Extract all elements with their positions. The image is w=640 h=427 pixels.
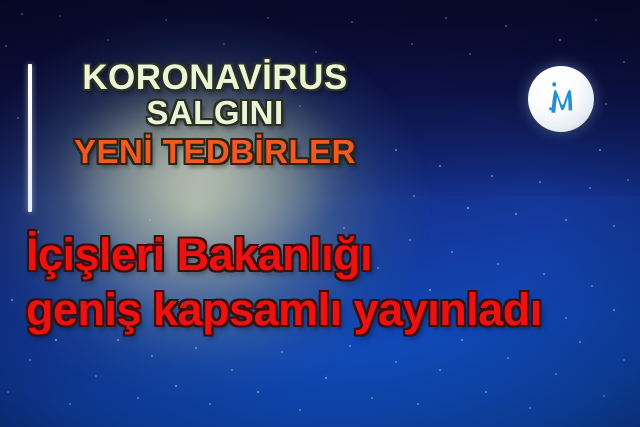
m-monogram-icon bbox=[539, 77, 583, 121]
poster-canvas: KORONAVİRUS SALGINI YENİ TEDBİRLER İçişl… bbox=[0, 0, 640, 427]
subheadline-line-1: İçişleri Bakanlığı bbox=[26, 228, 626, 283]
headline-line-2: SALGINI bbox=[44, 96, 386, 130]
subheadline-line-2: geniş kapsamlı yayınladı bbox=[26, 283, 626, 338]
m-monogram-badge[interactable] bbox=[528, 66, 594, 132]
subheadline-block: İçişleri Bakanlığı geniş kapsamlı yayınl… bbox=[26, 228, 626, 338]
headline-line-1: KORONAVİRUS bbox=[44, 60, 386, 96]
left-accent-bar bbox=[28, 64, 32, 212]
headline-block: KORONAVİRUS SALGINI YENİ TEDBİRLER bbox=[44, 60, 386, 169]
headline-line-3: YENİ TEDBİRLER bbox=[44, 135, 386, 169]
